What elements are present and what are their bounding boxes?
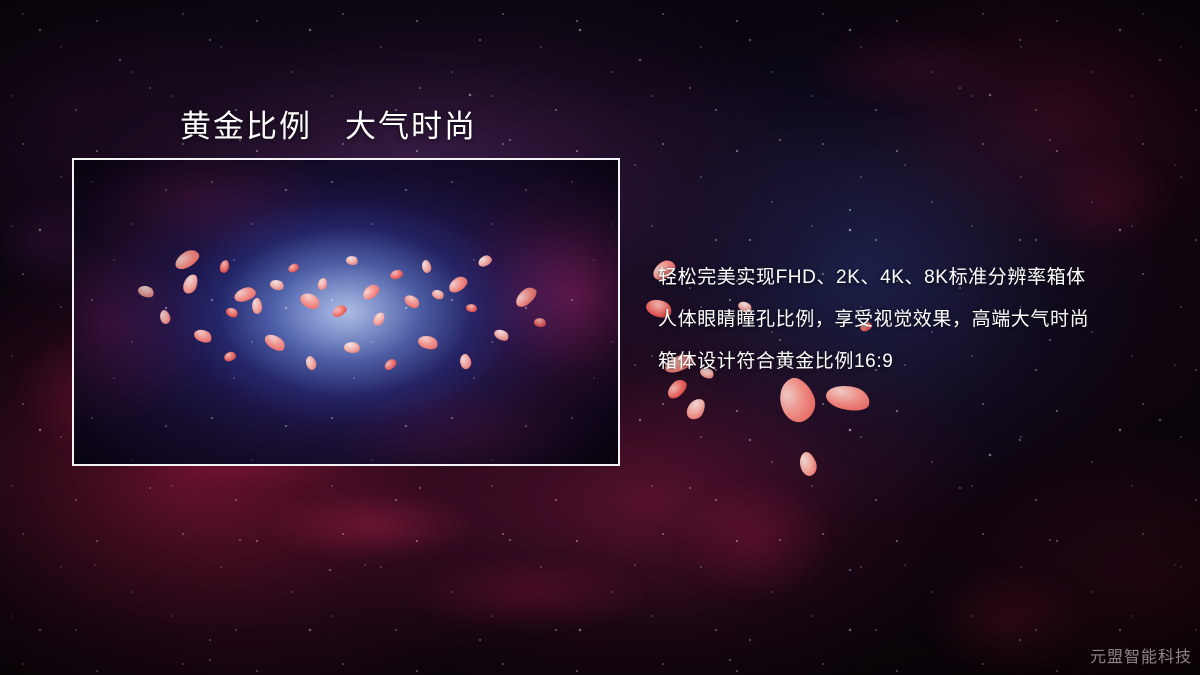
inner-vignette bbox=[74, 160, 618, 464]
body-line-1: 轻松完美实现FHD、2K、4K、8K标准分辨率箱体 bbox=[658, 257, 1178, 299]
body-line-3: 箱体设计符合黄金比例16:9 bbox=[658, 341, 1178, 383]
petal bbox=[796, 450, 819, 478]
petal bbox=[684, 396, 708, 423]
watermark: 元盟智能科技 bbox=[1090, 643, 1192, 667]
slide-canvas: 黄金比例 大气时尚 轻松完美实现FHD、2K、4K、8K标准分辨率箱体 人体眼睛… bbox=[0, 0, 1200, 675]
body-copy-block: 轻松完美实现FHD、2K、4K、8K标准分辨率箱体 人体眼睛瞳孔比例，享受视觉效… bbox=[658, 257, 1178, 383]
framed-nebula-photo bbox=[72, 158, 620, 466]
page-title: 黄金比例 大气时尚 bbox=[180, 101, 477, 146]
body-line-2: 人体眼睛瞳孔比例，享受视觉效果，高端大气时尚 bbox=[658, 299, 1178, 341]
petal bbox=[824, 381, 872, 415]
